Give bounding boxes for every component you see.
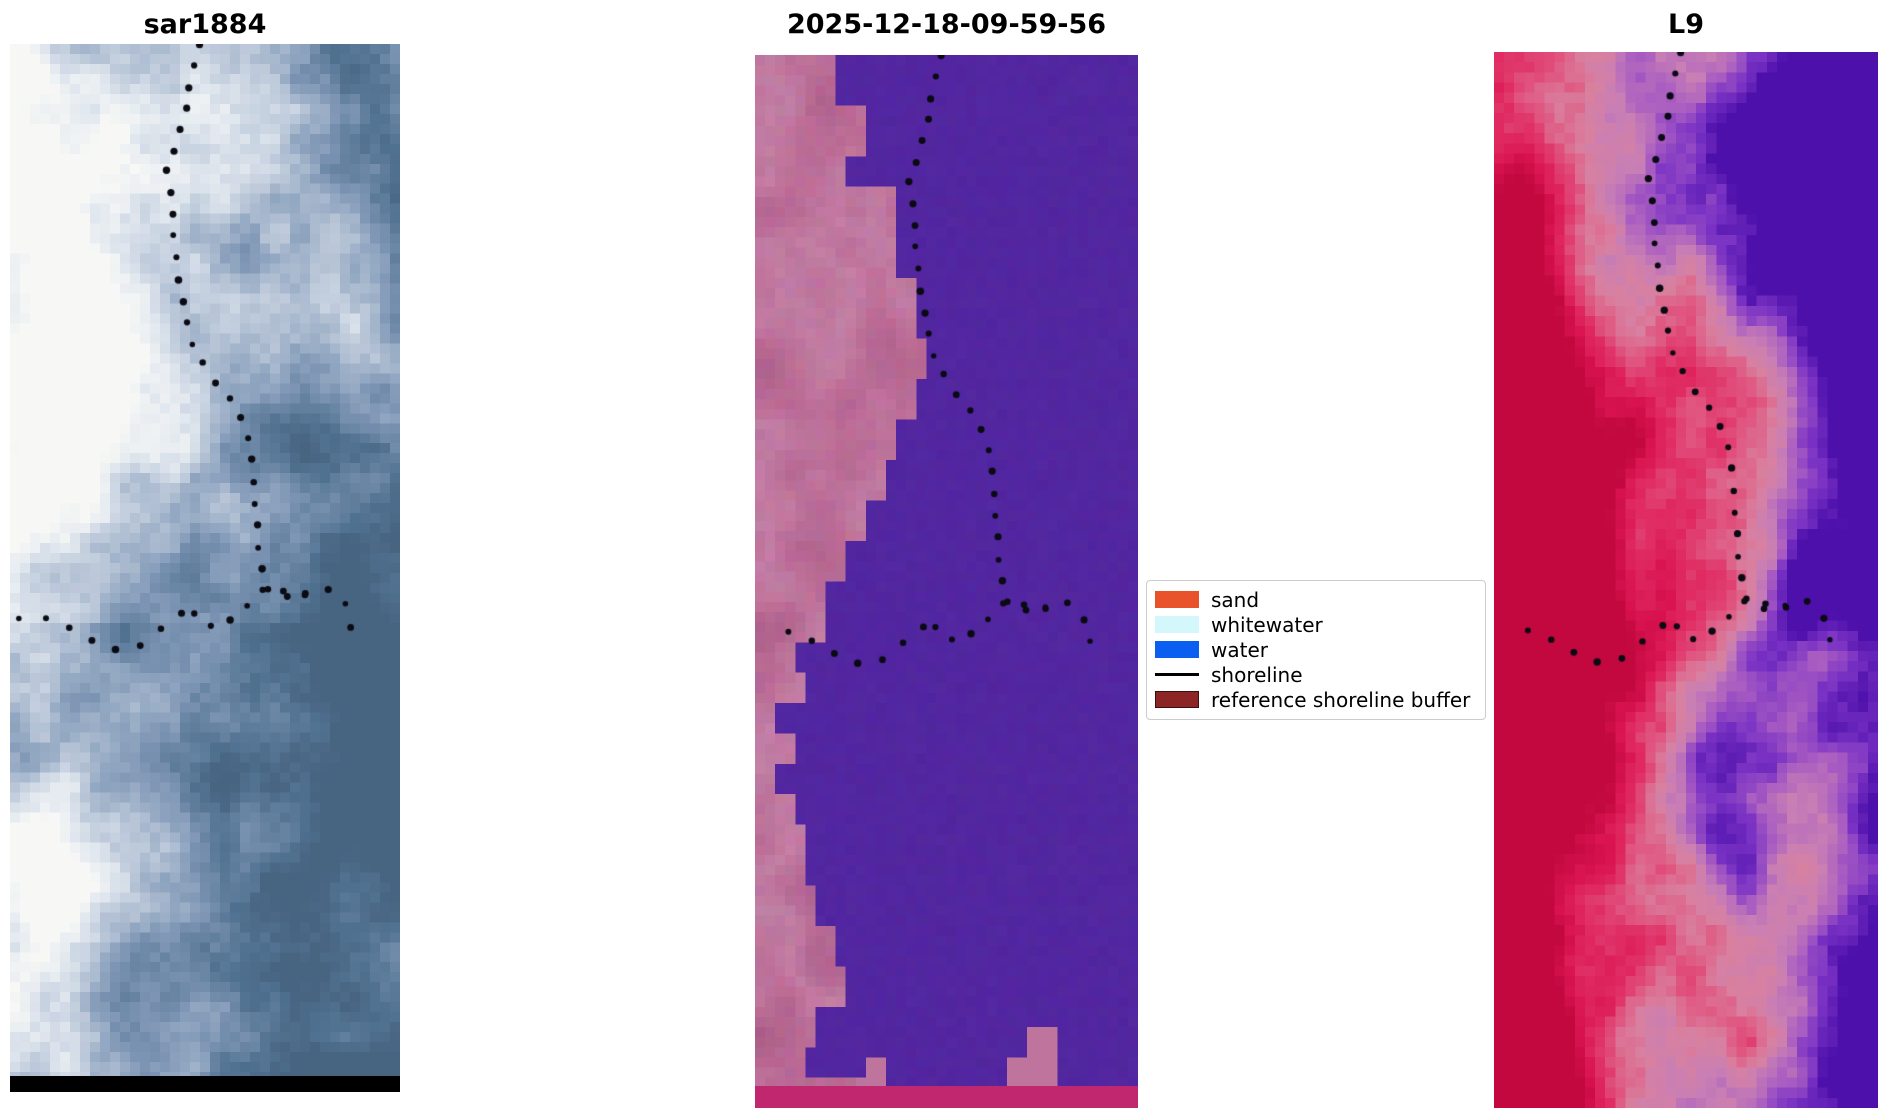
panel-classification	[755, 55, 1138, 1108]
panel-sar-image	[10, 44, 400, 1092]
legend-label-water: water	[1211, 640, 1268, 660]
nodata-strip-middle	[755, 1086, 1138, 1108]
water-swatch-icon	[1155, 641, 1199, 658]
legend-item-whitewater: whitewater	[1155, 612, 1477, 637]
legend-item-shoreline: shoreline	[1155, 662, 1477, 687]
legend-box: sand whitewater water shoreline referenc…	[1146, 580, 1486, 720]
sar-raster-layer	[10, 44, 400, 1092]
figure-canvas: sar1884 2025-12-18-09-59-56 L9	[0, 0, 1888, 1108]
panel-title-middle: 2025-12-18-09-59-56	[755, 11, 1138, 38]
legend-item-sand: sand	[1155, 587, 1477, 612]
sand-swatch-icon	[1155, 591, 1199, 608]
panel-title-left: sar1884	[10, 11, 400, 38]
reference-shoreline-buffer-swatch-icon	[1155, 691, 1199, 708]
legend-label-whitewater: whitewater	[1211, 615, 1323, 635]
shoreline-line-icon	[1155, 666, 1199, 683]
legend-item-water: water	[1155, 637, 1477, 662]
panel-title-right: L9	[1494, 11, 1878, 38]
nodata-strip-left	[10, 1076, 400, 1092]
panel-l9-composite	[1494, 52, 1878, 1108]
l9-raster-layer	[1494, 52, 1878, 1108]
legend-label-reference-shoreline-buffer: reference shoreline buffer	[1211, 690, 1470, 710]
classification-raster-layer	[755, 55, 1138, 1108]
legend-item-reference-shoreline-buffer: reference shoreline buffer	[1155, 687, 1477, 712]
whitewater-swatch-icon	[1155, 616, 1199, 633]
legend-label-shoreline: shoreline	[1211, 665, 1303, 685]
legend-label-sand: sand	[1211, 590, 1259, 610]
